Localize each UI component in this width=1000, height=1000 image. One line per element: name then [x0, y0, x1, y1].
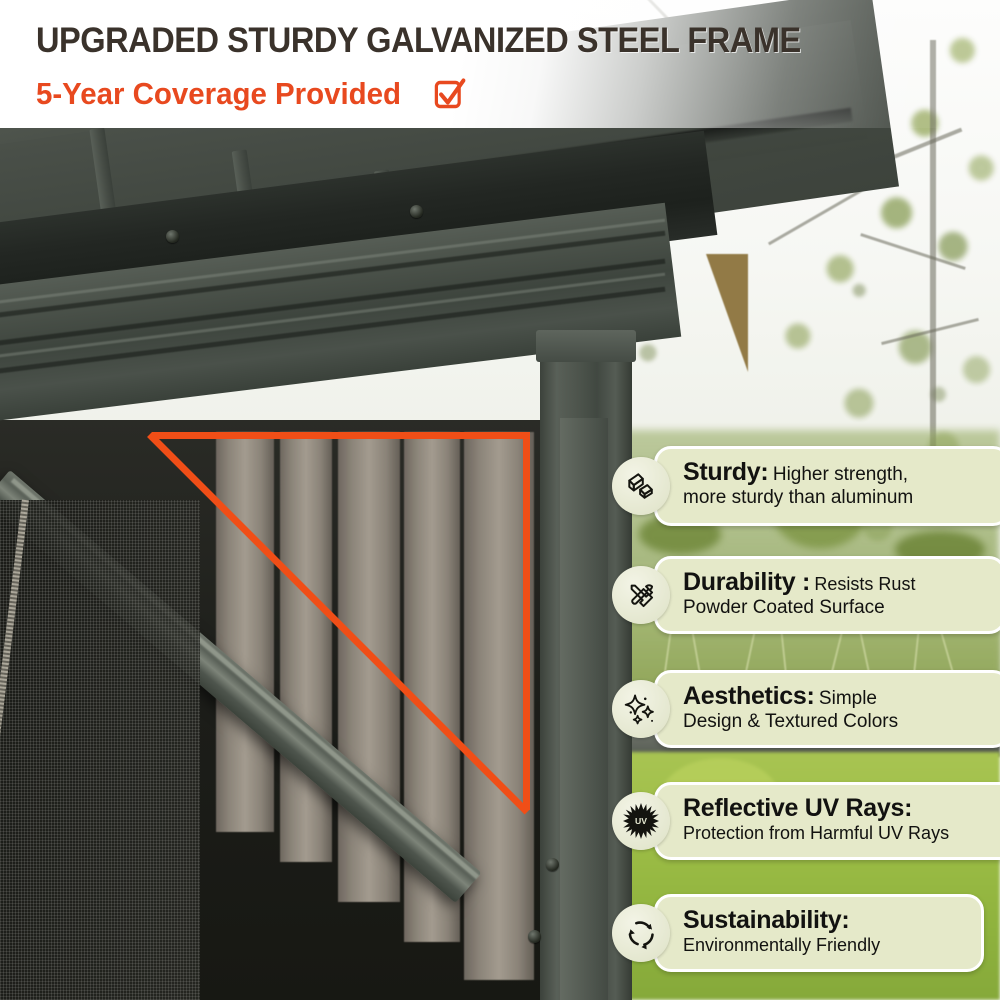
- triangle-hypotenuse: [147, 432, 530, 815]
- header-banner: UPGRADED STURDY GALVANIZED STEEL FRAME 5…: [0, 0, 1000, 128]
- tools-wrench-screwdriver-icon: [612, 566, 670, 624]
- feature-text-box: Reflective UV Rays: Protection from Harm…: [654, 782, 1000, 860]
- product-infographic: UPGRADED STURDY GALVANIZED STEEL FRAME 5…: [0, 0, 1000, 1000]
- roof-screw: [166, 230, 179, 243]
- feature-text-box: Aesthetics: Simple Design & Textured Col…: [654, 670, 1000, 748]
- feature-heading: Reflective UV Rays:: [683, 794, 912, 822]
- post-front-face: [560, 418, 608, 1000]
- feature-callout-uv-rays[interactable]: UV Reflective UV Rays: Protection from H…: [612, 782, 1000, 860]
- post-screw: [528, 930, 541, 943]
- feature-heading: Sturdy:: [683, 458, 768, 486]
- steel-bars-icon: [612, 457, 670, 515]
- feature-tail: Higher strength,: [773, 464, 908, 485]
- feature-first-line: Durability : Resists Rust: [683, 568, 989, 597]
- feature-callout-sturdy[interactable]: Sturdy: Higher strength, more sturdy tha…: [612, 446, 1000, 526]
- feature-subtext: Powder Coated Surface: [683, 597, 989, 620]
- recycle-icon: [612, 904, 670, 962]
- post-screw: [546, 858, 559, 871]
- feature-subtext: Environmentally Friendly: [683, 935, 967, 957]
- feature-first-line: Sustainability:: [683, 906, 967, 935]
- checkbox-checked-icon: [434, 78, 465, 111]
- feature-text-box: Sustainability: Environmentally Friendly: [654, 894, 984, 972]
- feature-subtext: more sturdy than aluminum: [683, 487, 993, 510]
- feature-callout-sustainability[interactable]: Sustainability: Environmentally Friendly: [612, 894, 984, 972]
- feature-heading: Sustainability:: [683, 906, 849, 934]
- triangle-right-edge: [523, 432, 530, 810]
- feature-text-box: Durability : Resists Rust Powder Coated …: [654, 556, 1000, 634]
- highlight-triangle: [152, 432, 530, 810]
- feature-subtext: Protection from Harmful UV Rays: [683, 823, 1000, 845]
- feature-tail: Simple: [819, 688, 877, 709]
- coverage-line: 5-Year Coverage Provided: [36, 76, 467, 112]
- feature-callout-durability[interactable]: Durability : Resists Rust Powder Coated …: [612, 556, 1000, 634]
- feature-tail: Resists Rust: [814, 574, 915, 594]
- feature-callout-list: Sturdy: Higher strength, more sturdy tha…: [612, 446, 1000, 1000]
- feature-first-line: Sturdy: Higher strength,: [683, 458, 993, 487]
- roof-screw: [410, 205, 423, 218]
- svg-text:UV: UV: [635, 816, 647, 826]
- page-title: UPGRADED STURDY GALVANIZED STEEL FRAME: [36, 21, 801, 61]
- feature-subtext: Design & Textured Colors: [683, 711, 993, 734]
- triangle-top-edge: [152, 432, 530, 439]
- post-cap: [536, 330, 636, 362]
- uv-sun-icon: UV: [612, 792, 670, 850]
- sparkles-icon: [612, 680, 670, 738]
- feature-first-line: Reflective UV Rays:: [683, 794, 1000, 823]
- feature-text-box: Sturdy: Higher strength, more sturdy tha…: [654, 446, 1000, 526]
- roof-fabric-corner: [706, 254, 748, 372]
- feature-callout-aesthetics[interactable]: Aesthetics: Simple Design & Textured Col…: [612, 670, 1000, 748]
- feature-heading: Durability :: [683, 568, 810, 596]
- feature-heading: Aesthetics:: [683, 682, 814, 710]
- feature-first-line: Aesthetics: Simple: [683, 682, 993, 711]
- coverage-label: 5-Year Coverage Provided: [36, 76, 401, 112]
